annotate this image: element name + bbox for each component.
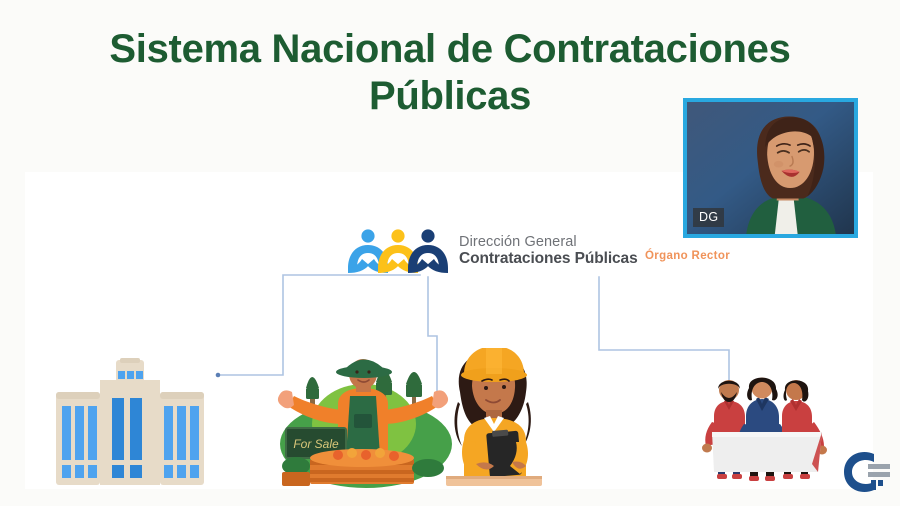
citizens-banner-icon <box>700 372 842 490</box>
dgcp-logo-text: Dirección General Contrataciones Pública… <box>459 234 638 268</box>
for-sale-sign-text: For Sale <box>293 437 339 451</box>
market-vendor-icon: For Sale <box>268 352 458 490</box>
government-building-icon <box>46 358 214 490</box>
dgcp-logo-line1: Dirección General <box>459 234 638 250</box>
video-participant-tile[interactable]: DG <box>683 98 858 238</box>
organo-rector-label: Órgano Rector <box>645 250 730 262</box>
dgcp-people-icon <box>346 228 450 274</box>
corner-logo-watermark <box>838 442 894 502</box>
dgcp-logo-line2: Contrataciones Públicas <box>459 250 638 267</box>
inspector-worker-icon <box>434 348 554 490</box>
dgcp-logo: Dirección General Contrataciones Pública… <box>346 228 638 274</box>
participant-initials-badge: DG <box>693 208 724 227</box>
